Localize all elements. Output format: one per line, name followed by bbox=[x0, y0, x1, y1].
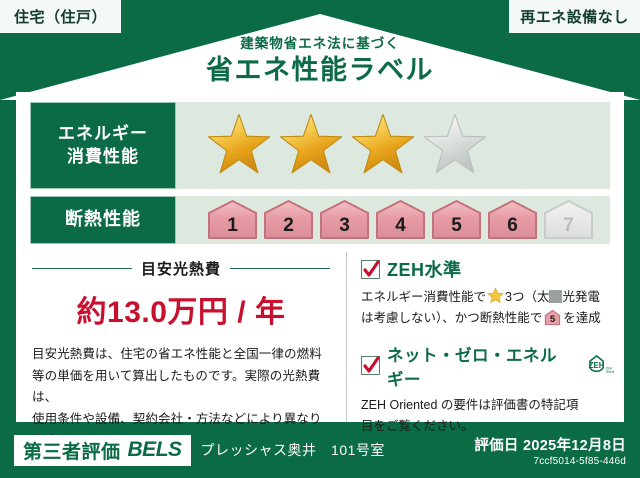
zeh-logo-icon: ZEH ZEH Oriented bbox=[575, 352, 614, 380]
zeh-body-part-e: を達成 bbox=[563, 311, 601, 325]
svg-text:Oriented: Oriented bbox=[606, 370, 614, 374]
lower-section: 目安光熱費 約13.0万円 / 年 目安光熱費は、住宅の省エネ性能と全国一律の燃… bbox=[16, 252, 624, 422]
energy-performance-label: 住宅（住戸） 再エネ設備なし 建築物省エネ法に基づく 省エネ性能ラベル エネルギ… bbox=[0, 0, 640, 478]
star-rating bbox=[176, 102, 610, 189]
house-level-filled-icon: 1 bbox=[206, 199, 259, 241]
energy-label-line2: 消費性能 bbox=[67, 146, 139, 168]
svg-text:6: 6 bbox=[507, 215, 518, 236]
property-name: プレッシャス奥井 101号室 bbox=[201, 440, 385, 460]
inline-star-icon bbox=[487, 287, 504, 304]
svg-text:2: 2 bbox=[283, 215, 294, 236]
svg-text:ZEH: ZEH bbox=[589, 361, 605, 370]
house-level-filled-icon: 4 bbox=[374, 199, 427, 241]
svg-text:3: 3 bbox=[339, 215, 350, 236]
cost-note-line-2: 等の単価を用いて算出したものです。実際の光熱費は、 bbox=[32, 366, 330, 409]
zeh-body-part-b: 3つ（太 bbox=[505, 290, 549, 304]
heading-title: 省エネ性能ラベル bbox=[0, 54, 640, 88]
zeh-standard-block: ZEH水準 エネルギー消費性能で3つ（太光発電は考慮しない）、かつ断熱性能で5を… bbox=[361, 256, 614, 330]
energy-rating-label: エネルギー 消費性能 bbox=[30, 102, 176, 189]
insulation-level-scale: 1234567 bbox=[176, 196, 610, 244]
insulation-label-text: 断熱性能 bbox=[65, 208, 141, 231]
cost-note-line-1: 目安光熱費は、住宅の省エネ性能と全国一律の燃料 bbox=[32, 344, 330, 366]
badge-renewable-equipment: 再エネ設備なし bbox=[509, 0, 640, 33]
zeh-oriented-head: ネット・ゼロ・エネルギー ZEH ZEH Oriented bbox=[361, 342, 614, 390]
evaluation-info: 評価日 2025年12月8日 7ccf5014-5f85-446d bbox=[474, 434, 626, 467]
zeh-body-part-c: 光発電 bbox=[562, 290, 600, 304]
star-empty-icon bbox=[420, 112, 490, 180]
star-filled-icon bbox=[276, 112, 346, 180]
house-level-empty-icon: 7 bbox=[542, 199, 595, 241]
star-filled-icon bbox=[348, 112, 418, 180]
evaluation-date: 評価日 2025年12月8日 bbox=[474, 434, 626, 455]
cost-amount: 約13.0万円 / 年 bbox=[32, 287, 330, 331]
zeh-oriented-title: ネット・ゼロ・エネルギー bbox=[387, 342, 566, 390]
house-level-filled-icon: 6 bbox=[486, 199, 539, 241]
bels-japanese-label: 第三者評価 bbox=[23, 437, 121, 464]
zeh-body-part-a: エネルギー消費性能で bbox=[361, 290, 486, 304]
house-level-filled-icon: 5 bbox=[430, 199, 483, 241]
cost-heading-text: 目安光熱費 bbox=[141, 258, 221, 279]
insulation-rating-label: 断熱性能 bbox=[30, 196, 176, 244]
cost-rule-left bbox=[32, 268, 132, 269]
svg-text:4: 4 bbox=[395, 215, 406, 236]
utility-cost-section: 目安光熱費 約13.0万円 / 年 目安光熱費は、住宅の省エネ性能と全国一律の燃… bbox=[16, 252, 346, 422]
cost-heading-row: 目安光熱費 bbox=[32, 258, 330, 279]
inline-house-level-icon: 5 bbox=[544, 309, 561, 326]
bels-certification-plate: 第三者評価 BELS bbox=[14, 435, 191, 466]
badge-building-type: 住宅（住戸） bbox=[0, 0, 121, 33]
main-panel: エネルギー 消費性能 断熱性能 1234567 目安光熱費 約13.0万円 / … bbox=[16, 92, 624, 422]
zeh-section: ZEH水準 エネルギー消費性能で3つ（太光発電は考慮しない）、かつ断熱性能で5を… bbox=[346, 252, 624, 422]
zeh-body-part-d: は考慮しない）、かつ断熱性能で bbox=[361, 311, 542, 325]
label-heading: 建築物省エネ法に基づく 省エネ性能ラベル bbox=[0, 37, 640, 88]
svg-text:5: 5 bbox=[550, 314, 555, 324]
zeh-standard-head: ZEH水準 bbox=[361, 256, 614, 282]
cost-rule-right bbox=[230, 268, 330, 269]
house-level-filled-icon: 3 bbox=[318, 199, 371, 241]
zeh-standard-body: エネルギー消費性能で3つ（太光発電は考慮しない）、かつ断熱性能で5を達成 bbox=[361, 287, 614, 330]
star-filled-icon bbox=[204, 112, 274, 180]
svg-text:5: 5 bbox=[451, 215, 462, 236]
svg-text:1: 1 bbox=[227, 215, 238, 236]
insulation-rating-row: 断熱性能 1234567 bbox=[30, 196, 610, 244]
energy-label-line1: エネルギー bbox=[58, 123, 148, 145]
checkbox-checked-icon bbox=[361, 260, 380, 279]
redaction-block bbox=[549, 290, 562, 303]
bels-logo-text: BELS bbox=[128, 438, 182, 462]
zeh-standard-title: ZEH水準 bbox=[387, 256, 462, 282]
energy-rating-row: エネルギー 消費性能 bbox=[30, 102, 610, 189]
footer-bar: 第三者評価 BELS プレッシャス奥井 101号室 評価日 2025年12月8日… bbox=[0, 422, 640, 478]
svg-text:7: 7 bbox=[563, 215, 574, 236]
checkbox-checked-icon bbox=[361, 356, 380, 375]
heading-subtitle: 建築物省エネ法に基づく bbox=[0, 37, 640, 52]
house-level-filled-icon: 2 bbox=[262, 199, 315, 241]
zeh-oriented-line-1: ZEH Oriented の要件は評価書の特記項 bbox=[361, 395, 614, 416]
evaluation-id: 7ccf5014-5f85-446d bbox=[474, 456, 626, 467]
